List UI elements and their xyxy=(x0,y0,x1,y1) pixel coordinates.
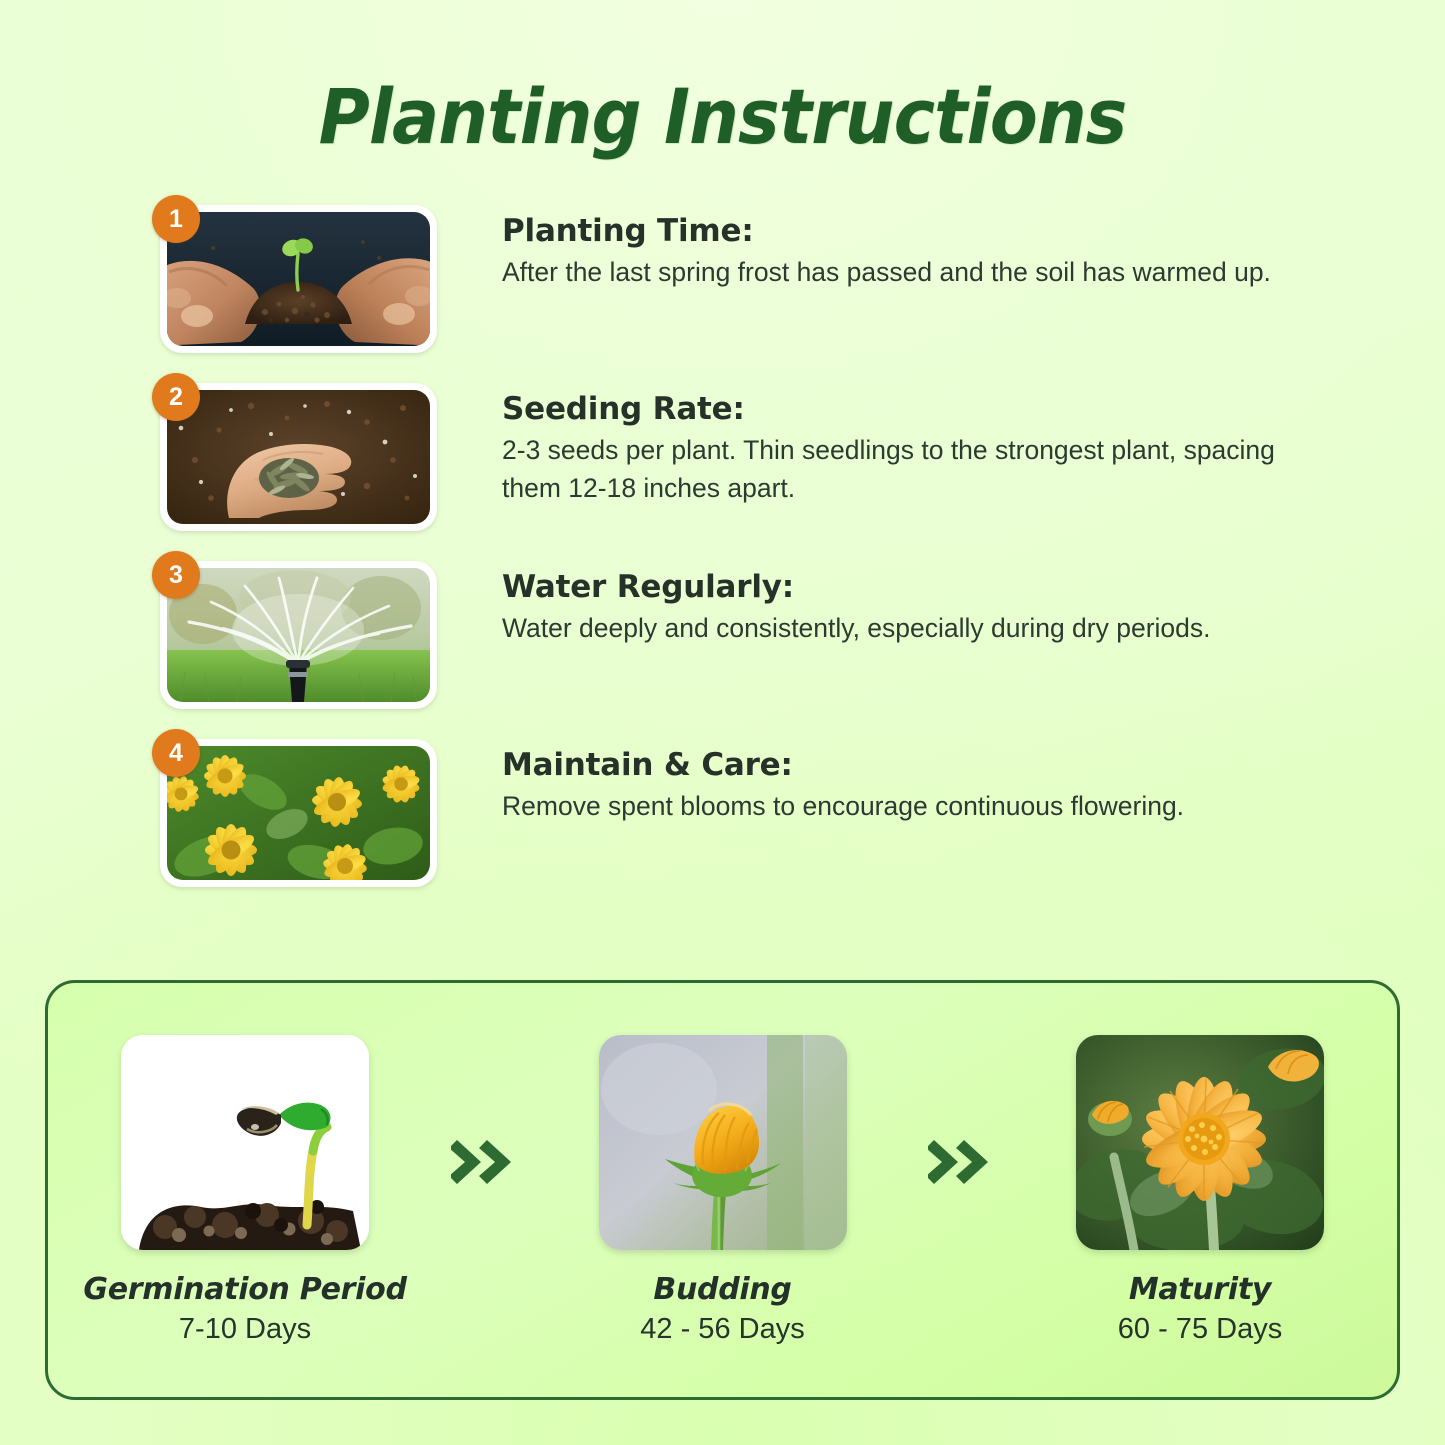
step-row: 2 xyxy=(152,373,1335,533)
hand-holding-seeds-over-soil-photo xyxy=(167,390,430,524)
timeline-stage-days: 60 - 75 Days xyxy=(1118,1313,1282,1346)
step-number-badge: 3 xyxy=(152,551,200,599)
step-row: 4 xyxy=(152,729,1335,889)
step-title: Seeding Rate: xyxy=(502,391,1335,427)
thumbnail-frame xyxy=(160,561,437,709)
timeline-stage-budding: Budding 42 - 56 Days xyxy=(578,1035,868,1346)
step-text-block: Seeding Rate: 2-3 seeds per plant. Thin … xyxy=(440,373,1335,507)
step-title: Maintain & Care: xyxy=(502,747,1335,783)
timeline-stage-label: Germination Period xyxy=(83,1272,406,1307)
hands-holding-soil-seedling-photo xyxy=(167,212,430,346)
step-thumbnail-1: 1 xyxy=(152,195,440,355)
timeline-stage-germination: Germination Period 7-10 Days xyxy=(100,1035,390,1346)
timeline-stage-maturity: Maturity 60 - 75 Days xyxy=(1055,1035,1345,1346)
step-number-badge: 4 xyxy=(152,729,200,777)
step-row: 1 xyxy=(152,195,1335,355)
double-chevron-right-icon xyxy=(916,1135,1006,1189)
step-description: Remove spent blooms to encourage continu… xyxy=(502,788,1312,826)
step-description: 2-3 seeds per plant. Thin seedlings to t… xyxy=(502,432,1312,507)
step-text-block: Maintain & Care: Remove spent blooms to … xyxy=(440,729,1335,826)
step-number-badge: 2 xyxy=(152,373,200,421)
open-orange-flower-photo xyxy=(1076,1035,1324,1250)
timeline-stage-days: 42 - 56 Days xyxy=(640,1313,804,1346)
sprouting-seed-in-soil-photo xyxy=(121,1035,369,1250)
step-thumbnail-2: 2 xyxy=(152,373,440,533)
thumbnail-frame xyxy=(160,739,437,887)
title-section: Planting Instructions xyxy=(0,0,1445,161)
step-title: Planting Time: xyxy=(502,213,1335,249)
step-text-block: Water Regularly: Water deeply and consis… xyxy=(440,551,1335,648)
timeline-stage-days: 7-10 Days xyxy=(179,1313,311,1346)
lawn-sprinkler-spraying-water-photo xyxy=(167,568,430,702)
double-chevron-right-icon xyxy=(439,1135,529,1189)
step-thumbnail-3: 3 xyxy=(152,551,440,711)
planting-steps-list: 1 xyxy=(0,195,1445,889)
yellow-flower-bud-photo xyxy=(599,1035,847,1250)
step-description: Water deeply and consistently, especiall… xyxy=(502,610,1312,648)
step-thumbnail-4: 4 xyxy=(152,729,440,889)
growth-timeline-panel: Germination Period 7-10 Days xyxy=(45,980,1400,1400)
timeline-stage-label: Budding xyxy=(653,1272,791,1307)
page-title: Planting Instructions xyxy=(58,72,1387,161)
step-row: 3 xyxy=(152,551,1335,711)
yellow-flowers-bloom-photo xyxy=(167,746,430,880)
step-title: Water Regularly: xyxy=(502,569,1335,605)
step-number-badge: 1 xyxy=(152,195,200,243)
step-text-block: Planting Time: After the last spring fro… xyxy=(440,195,1335,292)
timeline-stage-label: Maturity xyxy=(1129,1272,1271,1307)
thumbnail-frame xyxy=(160,383,437,531)
step-description: After the last spring frost has passed a… xyxy=(502,254,1312,292)
thumbnail-frame xyxy=(160,205,437,353)
